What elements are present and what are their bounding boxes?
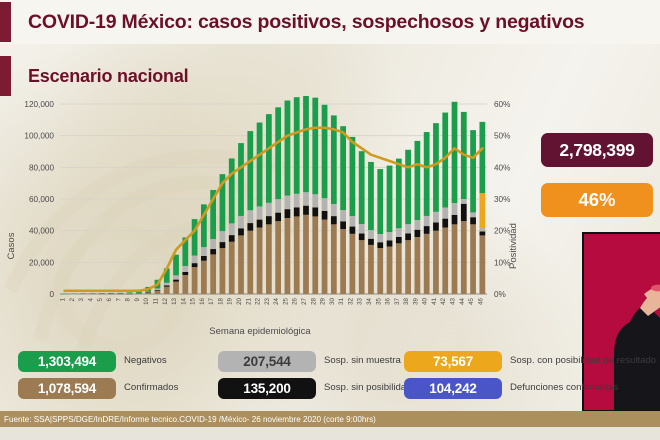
legend-chip-value: 1,078,594 bbox=[18, 378, 116, 399]
svg-text:37: 37 bbox=[394, 297, 401, 304]
subtitle-accent-bar bbox=[0, 56, 11, 96]
svg-text:0%: 0% bbox=[494, 290, 506, 299]
legend-item-negativos: 1,303,494 Negativos bbox=[18, 351, 167, 372]
svg-text:13: 13 bbox=[171, 297, 178, 304]
svg-text:36: 36 bbox=[385, 297, 392, 304]
legend-item-confirmados: 1,078,594 Confirmados bbox=[18, 378, 178, 399]
svg-text:50%: 50% bbox=[494, 132, 510, 141]
svg-text:0: 0 bbox=[49, 290, 54, 299]
chart-svg: 020,00040,00060,00080,000100,000120,000 … bbox=[0, 96, 530, 346]
x-axis-ticks: 1234567891011121314151617181920212223242… bbox=[60, 297, 485, 304]
svg-text:80,000: 80,000 bbox=[29, 163, 54, 172]
legend-item-sosp-con-posibilidad: 73,567 Sosp. con posibilidad de resultad… bbox=[404, 351, 656, 372]
section-subtitle: Escenario nacional bbox=[28, 66, 188, 87]
kpi-positivity: 46% bbox=[541, 183, 653, 217]
svg-text:15: 15 bbox=[190, 297, 197, 304]
svg-text:10: 10 bbox=[143, 297, 150, 304]
y-axis-ticks: 020,00040,00060,00080,000100,000120,000 bbox=[24, 100, 54, 299]
footer-source-text: Fuente: SSA|SPPS/DGE/InDRE/Informe tecni… bbox=[4, 415, 376, 424]
footer-padding bbox=[0, 427, 660, 440]
svg-text:26: 26 bbox=[292, 297, 299, 304]
svg-text:60,000: 60,000 bbox=[29, 195, 54, 204]
svg-text:23: 23 bbox=[264, 297, 271, 304]
svg-text:28: 28 bbox=[310, 297, 317, 304]
svg-text:3: 3 bbox=[78, 297, 85, 301]
svg-text:14: 14 bbox=[180, 297, 187, 304]
epidemic-curve-chart: 020,00040,00060,00080,000100,000120,000 … bbox=[0, 96, 530, 346]
legend-chip-value: 207,544 bbox=[218, 351, 316, 372]
svg-text:12: 12 bbox=[162, 297, 169, 304]
legend-chip-value: 73,567 bbox=[404, 351, 502, 372]
legend: 1,303,494 Negativos 1,078,594 Confirmado… bbox=[0, 348, 660, 406]
svg-text:1: 1 bbox=[60, 297, 67, 301]
svg-text:25: 25 bbox=[282, 297, 289, 304]
svg-text:5: 5 bbox=[97, 297, 104, 301]
svg-text:41: 41 bbox=[431, 297, 438, 304]
svg-text:33: 33 bbox=[357, 297, 364, 304]
svg-text:27: 27 bbox=[301, 297, 308, 304]
svg-text:35: 35 bbox=[375, 297, 382, 304]
y2-axis-label: Positividad bbox=[508, 223, 519, 269]
header-bar: COVID-19 México: casos positivos, sospec… bbox=[0, 0, 660, 44]
svg-text:30: 30 bbox=[329, 297, 336, 304]
legend-chip-label: Negativos bbox=[124, 356, 167, 367]
svg-text:20,000: 20,000 bbox=[29, 258, 54, 267]
svg-text:42: 42 bbox=[440, 297, 447, 304]
svg-text:11: 11 bbox=[152, 297, 159, 304]
svg-text:100,000: 100,000 bbox=[24, 132, 54, 141]
footer-bar: Fuente: SSA|SPPS/DGE/InDRE/Informe tecni… bbox=[0, 411, 660, 427]
svg-text:40: 40 bbox=[422, 297, 429, 304]
svg-text:60%: 60% bbox=[494, 100, 510, 109]
svg-text:20: 20 bbox=[236, 297, 243, 304]
legend-chip-value: 104,242 bbox=[404, 378, 502, 399]
svg-text:40,000: 40,000 bbox=[29, 227, 54, 236]
legend-chip-label: Defunciones confirmadas bbox=[510, 383, 618, 394]
svg-text:46: 46 bbox=[477, 297, 484, 304]
svg-text:34: 34 bbox=[366, 297, 373, 304]
legend-chip-label: Sosp. con posibilidad de resultado bbox=[510, 356, 656, 367]
svg-text:8: 8 bbox=[125, 297, 132, 301]
legend-chip-label: Confirmados bbox=[124, 383, 178, 394]
svg-text:44: 44 bbox=[459, 297, 466, 304]
svg-text:9: 9 bbox=[134, 297, 141, 301]
svg-text:39: 39 bbox=[412, 297, 419, 304]
svg-text:30%: 30% bbox=[494, 195, 510, 204]
svg-text:45: 45 bbox=[468, 297, 475, 304]
svg-text:38: 38 bbox=[403, 297, 410, 304]
legend-item-sosp-sin-muestra: 207,544 Sosp. sin muestra bbox=[218, 351, 401, 372]
chart-bars bbox=[62, 96, 485, 295]
svg-text:18: 18 bbox=[217, 297, 224, 304]
kpi-total-cases: 2,798,399 bbox=[541, 133, 653, 167]
svg-text:31: 31 bbox=[338, 297, 345, 304]
svg-text:19: 19 bbox=[227, 297, 234, 304]
legend-chip-label: Sosp. sin muestra bbox=[324, 356, 401, 367]
y-axis-label: Casos bbox=[6, 232, 17, 259]
svg-text:29: 29 bbox=[320, 297, 327, 304]
chart-gridlines bbox=[60, 104, 487, 294]
header-accent-bar bbox=[0, 2, 11, 42]
svg-text:24: 24 bbox=[273, 297, 280, 304]
legend-item-defunciones: 104,242 Defunciones confirmadas bbox=[404, 378, 618, 399]
svg-text:6: 6 bbox=[106, 297, 113, 301]
legend-chip-value: 135,200 bbox=[218, 378, 316, 399]
svg-text:16: 16 bbox=[199, 297, 206, 304]
svg-text:21: 21 bbox=[245, 297, 252, 304]
svg-text:43: 43 bbox=[450, 297, 457, 304]
svg-text:40%: 40% bbox=[494, 163, 510, 172]
svg-text:4: 4 bbox=[87, 297, 94, 301]
svg-text:32: 32 bbox=[347, 297, 354, 304]
legend-chip-value: 1,303,494 bbox=[18, 351, 116, 372]
svg-text:2: 2 bbox=[69, 297, 76, 301]
x-axis-title: Semana epidemiológica bbox=[0, 326, 520, 337]
page-title: COVID-19 México: casos positivos, sospec… bbox=[28, 11, 584, 34]
svg-text:120,000: 120,000 bbox=[24, 100, 54, 109]
svg-text:22: 22 bbox=[255, 297, 262, 304]
svg-text:7: 7 bbox=[115, 297, 122, 301]
svg-text:17: 17 bbox=[208, 297, 215, 304]
